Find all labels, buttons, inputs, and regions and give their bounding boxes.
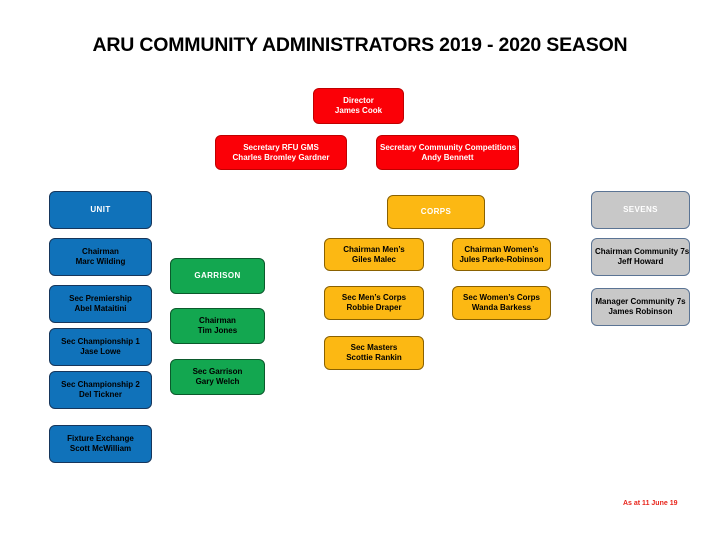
node-corps-sec-masters-name: Scottie Rankin [328, 353, 420, 363]
node-secretary-community-competitions-name: Andy Bennett [380, 153, 515, 163]
node-unit-fixture-exchange-name: Scott McWilliam [53, 444, 148, 454]
node-sevens-header-label: SEVENS [595, 205, 686, 215]
node-garrison-header[interactable]: GARRISON [170, 258, 265, 294]
node-corps-sec-masters-role: Sec Masters [328, 343, 420, 353]
node-unit-sec-premiership-role: Sec Premiership [53, 294, 148, 304]
node-garrison-header-label: GARRISON [174, 271, 261, 281]
node-sevens-manager[interactable]: Manager Community 7s James Robinson [591, 288, 690, 326]
node-director[interactable]: Director James Cook [313, 88, 404, 124]
node-corps-sec-mens-role: Sec Men’s Corps [328, 293, 420, 303]
page-title: ARU COMMUNITY ADMINISTRATORS 2019 - 2020… [0, 34, 720, 57]
node-secretary-rfu-gms[interactable]: Secretary RFU GMS Charles Bromley Gardne… [215, 135, 347, 170]
node-unit-sec-championship-2[interactable]: Sec Championship 2 Del Tickner [49, 371, 152, 409]
node-garrison-sec-role: Sec Garrison [174, 367, 261, 377]
node-corps-chairman-mens[interactable]: Chairman Men’s Giles Malec [324, 238, 424, 271]
node-director-role: Director [317, 96, 400, 106]
node-unit-fixture-exchange-role: Fixture Exchange [53, 434, 148, 444]
node-secretary-rfu-gms-name: Charles Bromley Gardner [219, 153, 343, 163]
node-corps-chairman-womens[interactable]: Chairman Women’s Jules Parke-Robinson [452, 238, 551, 271]
node-garrison-sec-name: Gary Welch [174, 377, 261, 387]
org-chart-canvas: ARU COMMUNITY ADMINISTRATORS 2019 - 2020… [0, 0, 720, 540]
node-sevens-chairman[interactable]: Chairman Community 7s Jeff Howard [591, 238, 690, 276]
node-corps-sec-womens-role: Sec Women’s Corps [456, 293, 547, 303]
node-sevens-manager-name: James Robinson [595, 307, 686, 317]
node-unit-sec-championship-1-role: Sec Championship 1 [53, 337, 148, 347]
node-corps-header[interactable]: CORPS [387, 195, 485, 229]
node-corps-sec-womens[interactable]: Sec Women’s Corps Wanda Barkess [452, 286, 551, 320]
node-unit-sec-championship-1-name: Jase Lowe [53, 347, 148, 357]
node-corps-chairman-mens-name: Giles Malec [328, 255, 420, 265]
node-unit-header[interactable]: UNIT [49, 191, 152, 229]
node-unit-chairman-name: Marc Wilding [53, 257, 148, 267]
node-corps-sec-masters[interactable]: Sec Masters Scottie Rankin [324, 336, 424, 370]
node-unit-sec-premiership[interactable]: Sec Premiership Abel Mataitini [49, 285, 152, 323]
node-unit-fixture-exchange[interactable]: Fixture Exchange Scott McWilliam [49, 425, 152, 463]
node-unit-sec-premiership-name: Abel Mataitini [53, 304, 148, 314]
node-unit-sec-championship-1[interactable]: Sec Championship 1 Jase Lowe [49, 328, 152, 366]
node-sevens-header[interactable]: SEVENS [591, 191, 690, 229]
node-secretary-rfu-gms-role: Secretary RFU GMS [219, 143, 343, 153]
node-corps-sec-mens[interactable]: Sec Men’s Corps Robbie Draper [324, 286, 424, 320]
node-sevens-chairman-name: Jeff Howard [595, 257, 686, 267]
node-garrison-sec[interactable]: Sec Garrison Gary Welch [170, 359, 265, 395]
node-corps-chairman-mens-role: Chairman Men’s [328, 245, 420, 255]
node-unit-chairman-role: Chairman [53, 247, 148, 257]
node-garrison-chairman-name: Tim Jones [174, 326, 261, 336]
node-unit-header-label: UNIT [53, 205, 148, 215]
node-unit-sec-championship-2-name: Del Tickner [53, 390, 148, 400]
node-corps-chairman-womens-role: Chairman Women’s [456, 245, 547, 255]
node-garrison-chairman[interactable]: Chairman Tim Jones [170, 308, 265, 344]
node-corps-chairman-womens-name: Jules Parke-Robinson [456, 255, 547, 265]
node-corps-sec-womens-name: Wanda Barkess [456, 303, 547, 313]
node-unit-chairman[interactable]: Chairman Marc Wilding [49, 238, 152, 276]
node-unit-sec-championship-2-role: Sec Championship 2 [53, 380, 148, 390]
node-corps-sec-mens-name: Robbie Draper [328, 303, 420, 313]
footer-date-note: As at 11 June 19 [623, 500, 677, 507]
node-secretary-community-competitions[interactable]: Secretary Community Competitions Andy Be… [376, 135, 519, 170]
node-sevens-manager-role: Manager Community 7s [595, 297, 686, 307]
node-secretary-community-competitions-role: Secretary Community Competitions [380, 143, 515, 153]
node-director-name: James Cook [317, 106, 400, 116]
node-sevens-chairman-role: Chairman Community 7s [595, 247, 686, 257]
node-corps-header-label: CORPS [391, 207, 481, 217]
node-garrison-chairman-role: Chairman [174, 316, 261, 326]
